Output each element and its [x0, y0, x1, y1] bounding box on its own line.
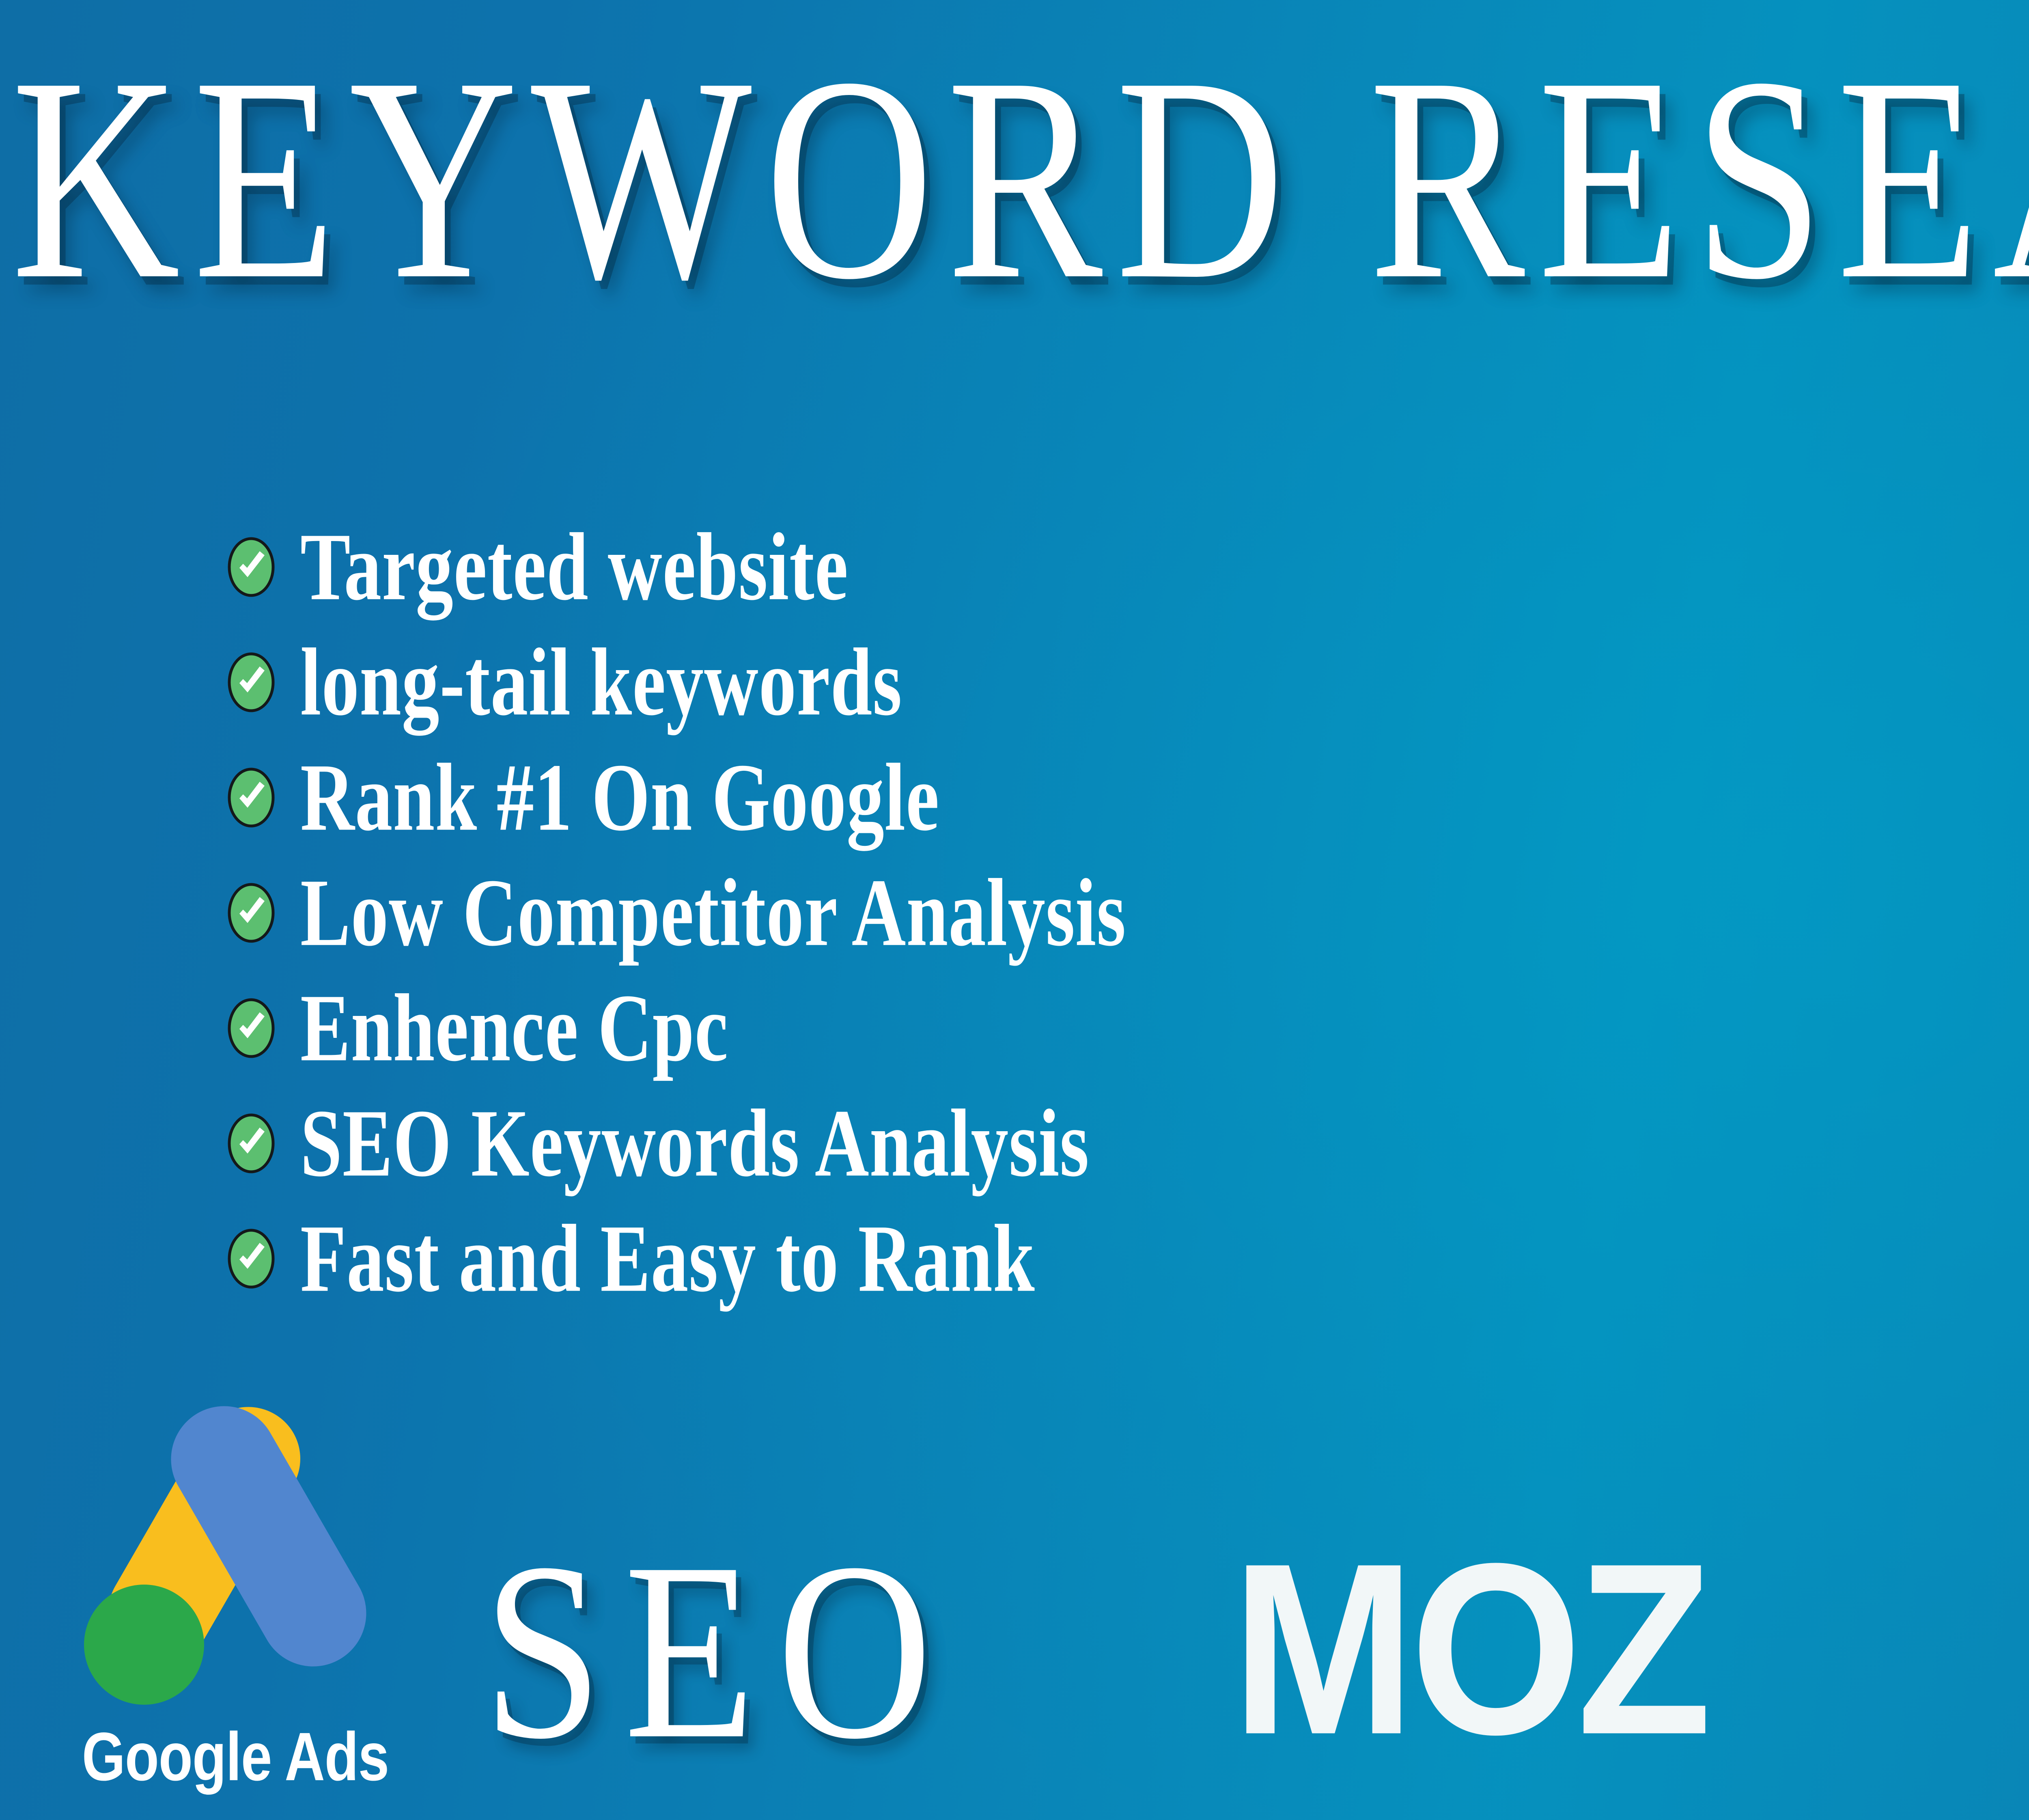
list-item-label: SEO Keywords Analysis [300, 1095, 1089, 1192]
list-item-label: Enhence Cpc [300, 980, 728, 1076]
seo-wordmark: SEO [483, 1524, 954, 1778]
check-circle-icon [227, 882, 275, 944]
list-item: Enhence Cpc [227, 970, 2013, 1086]
poster-canvas: KEYWORD RESEARCH Targeted website long-t… [0, 0, 2029, 1820]
list-item: Targeted website [227, 509, 2013, 625]
page-title-area: KEYWORD RESEARCH [0, 53, 2029, 304]
list-item-label: Fast and Easy to Rank [300, 1210, 1035, 1307]
moz-wordmark: MOZ [1232, 1527, 1707, 1771]
check-circle-icon [227, 536, 275, 598]
list-item-label: long-tail keywords [300, 634, 902, 731]
feature-checklist: Targeted website long-tail keywords Rank… [227, 509, 2013, 1316]
google-ads-label: Google Ads [73, 1718, 398, 1796]
list-item: SEO Keywords Analysis [227, 1086, 2013, 1201]
list-item: long-tail keywords [227, 625, 2013, 740]
check-circle-icon [227, 1228, 275, 1290]
google-ads-logo: Google Ads [61, 1388, 410, 1810]
list-item: Rank #1 On Google [227, 740, 2013, 855]
list-item: Low Competitor Analysis [227, 855, 2013, 970]
list-item-label: Rank #1 On Google [300, 749, 939, 846]
google-ads-logo-icon [61, 1388, 410, 1709]
page-title: KEYWORD RESEARCH [11, 41, 2029, 317]
check-circle-icon [227, 767, 275, 828]
list-item: Fast and Easy to Rank [227, 1201, 2013, 1316]
list-item-label: Low Competitor Analysis [300, 865, 1126, 961]
check-circle-icon [227, 997, 275, 1059]
check-circle-icon [227, 1113, 275, 1174]
check-circle-icon [227, 651, 275, 713]
list-item-label: Targeted website [300, 519, 849, 615]
